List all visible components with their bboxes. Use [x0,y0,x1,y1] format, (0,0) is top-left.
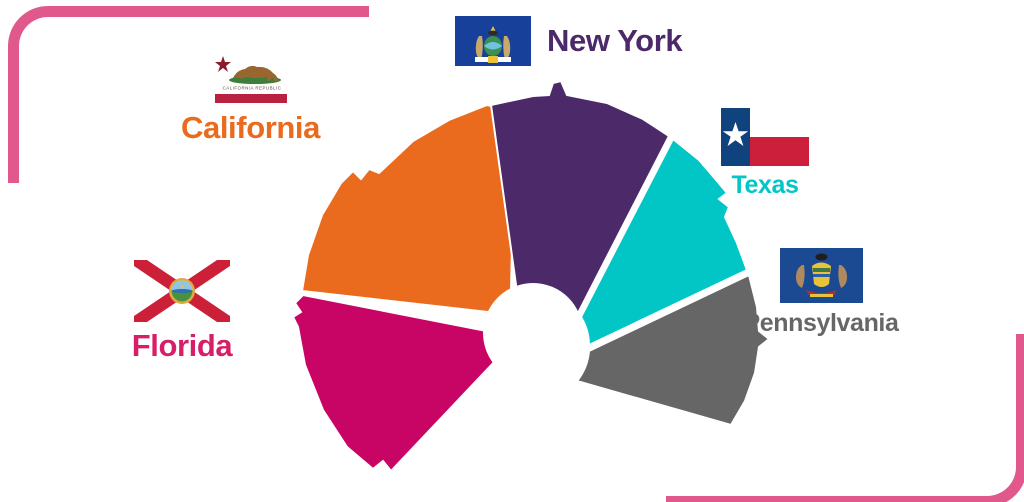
svg-text:CALIFORNIA REPUBLIC: CALIFORNIA REPUBLIC [222,85,281,90]
state-label-california[interactable]: CALIFORNIA REPUBLIC California [168,50,333,145]
state-label-newyork[interactable]: New York [455,16,682,66]
state-label-texas[interactable]: Texas [715,108,815,198]
state-name-florida: Florida [132,330,233,363]
pennsylvania-flag-icon [780,248,863,303]
new-york-flag-icon [455,16,531,66]
donut-center-hole [483,283,583,383]
donut-slice-california[interactable] [302,105,515,315]
state-label-pennsylvania[interactable]: Pennsylvania [740,248,902,336]
state-name-newyork: New York [547,25,682,58]
donut-slice-florida[interactable] [293,295,507,471]
state-name-texas: Texas [731,172,798,198]
state-label-florida[interactable]: Florida [118,260,246,363]
texas-flag-icon [721,108,809,166]
state-name-california: California [181,112,320,145]
state-name-pennsylvania: Pennsylvania [743,310,898,336]
infographic-canvas: CALIFORNIA REPUBLIC California New York [0,0,1024,502]
florida-flag-icon [134,260,230,322]
california-flag-icon: CALIFORNIA REPUBLIC [203,50,299,108]
